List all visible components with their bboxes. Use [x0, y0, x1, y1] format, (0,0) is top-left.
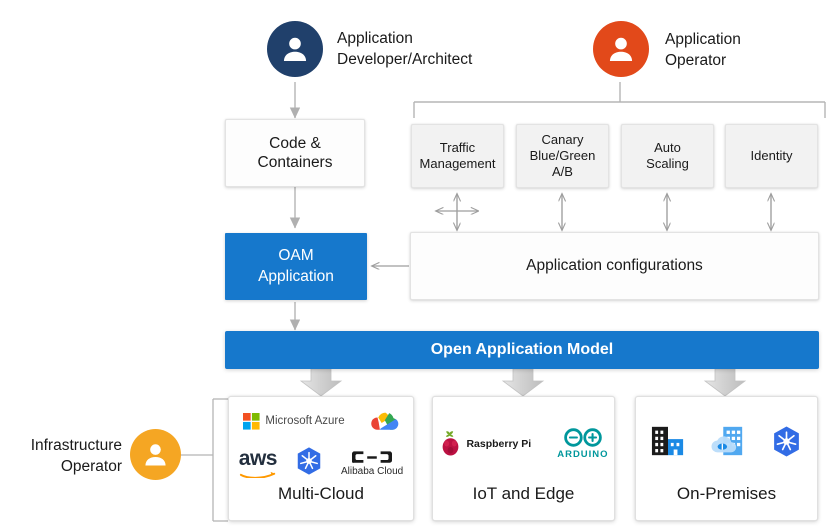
alibaba-cloud-logo: Alibaba Cloud: [341, 450, 403, 477]
label-infrastructure-operator: Infrastructure Operator: [2, 436, 122, 478]
hybrid-cloud-building-icon: [710, 424, 746, 463]
raspberry-pi-logo-text: Raspberry Pi: [466, 438, 531, 450]
raspberry-pi-logo: Raspberry Pi: [438, 430, 531, 457]
box-oam-application-label: OAM Application: [258, 246, 334, 286]
kubernetes-logo: [294, 446, 324, 481]
panel-iot-and-edge[interactable]: Raspberry Pi A: [432, 396, 615, 521]
avatar-infrastructure-operator: [130, 429, 181, 480]
panel-on-premises[interactable]: On-Premises: [635, 396, 818, 521]
bar-open-application-model-label: Open Application Model: [431, 341, 614, 359]
box-code-and-containers-label: Code & Containers: [258, 134, 333, 173]
logo-row-bottom: aws: [239, 446, 403, 481]
box-trait-identity-label: Identity: [751, 148, 793, 164]
box-code-and-containers[interactable]: Code & Containers: [225, 119, 365, 187]
box-trait-auto-scaling-label: Auto Scaling: [646, 140, 689, 173]
kubernetes-logo: [770, 425, 803, 463]
panel-multi-cloud[interactable]: Microsoft Azure aws: [228, 396, 414, 521]
diagram-canvas: Application Developer/Architect Applicat…: [0, 0, 840, 532]
box-application-configurations[interactable]: Application configurations: [410, 232, 819, 300]
panel-on-premises-title: On-Premises: [677, 484, 776, 520]
box-trait-canary-label: Canary Blue/Green A/B: [530, 132, 596, 181]
arduino-logo: ARDUINO: [557, 427, 608, 460]
box-trait-traffic-management-label: Traffic Management: [420, 140, 496, 173]
alibaba-cloud-logo-text: Alibaba Cloud: [341, 466, 403, 477]
aws-logo: aws: [239, 448, 277, 478]
datacenter-building-icon: [650, 424, 686, 463]
microsoft-azure-logo-text: Microsoft Azure: [265, 415, 344, 427]
panel-iot-and-edge-title: IoT and Edge: [473, 484, 575, 520]
multi-cloud-logos: Microsoft Azure aws: [229, 397, 413, 484]
logo-row: Raspberry Pi A: [438, 427, 608, 460]
box-application-configurations-label: Application configurations: [526, 256, 703, 275]
google-cloud-logo: [365, 407, 399, 436]
box-trait-auto-scaling[interactable]: Auto Scaling: [621, 124, 714, 188]
person-avatar-icon: [604, 32, 638, 66]
logo-row: [650, 424, 803, 463]
bar-open-application-model[interactable]: Open Application Model: [225, 331, 819, 369]
box-oam-application[interactable]: OAM Application: [225, 233, 367, 300]
person-avatar-icon: [140, 439, 171, 470]
iot-edge-logos: Raspberry Pi A: [433, 397, 614, 484]
panel-multi-cloud-title: Multi-Cloud: [278, 484, 364, 520]
person-avatar-icon: [278, 32, 312, 66]
avatar-application-operator: [593, 21, 649, 77]
on-premises-logos: [636, 397, 817, 484]
logo-row-top: Microsoft Azure: [243, 407, 398, 436]
label-application-operator: Application Operator: [665, 30, 840, 72]
box-trait-traffic-management[interactable]: Traffic Management: [411, 124, 504, 188]
label-application-developer: Application Developer/Architect: [337, 29, 537, 71]
aws-logo-text: aws: [239, 448, 277, 469]
arduino-logo-text: ARDUINO: [557, 449, 608, 460]
box-trait-identity[interactable]: Identity: [725, 124, 818, 188]
box-trait-canary[interactable]: Canary Blue/Green A/B: [516, 124, 609, 188]
microsoft-azure-logo: Microsoft Azure: [243, 413, 344, 430]
avatar-application-developer: [267, 21, 323, 77]
